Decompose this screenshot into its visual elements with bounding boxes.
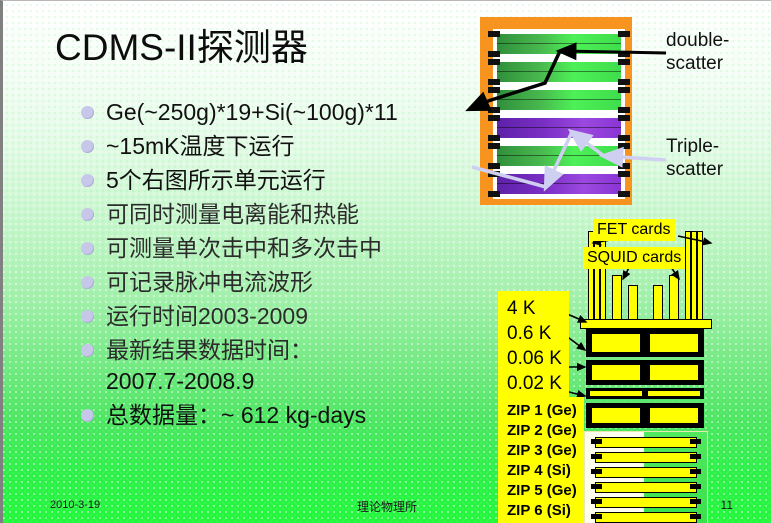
bullet-dot-icon xyxy=(81,276,94,289)
label-double-scatter: double- scatter xyxy=(666,29,729,75)
label-double-scatter-line2: scatter xyxy=(666,52,729,75)
zip-label: ZIP 3 (Ge) xyxy=(507,441,577,461)
bullet-list: Ge(~250g)*19+Si(~100g)*11 ~15mK温度下运行 5个右… xyxy=(81,97,481,434)
fet-cards-label: FET cards xyxy=(593,219,675,241)
bullet-dot-icon xyxy=(81,344,94,357)
zip-label: ZIP 2 (Ge) xyxy=(507,421,577,441)
bullet-text: 可记录脉冲电流波形 xyxy=(106,267,313,298)
list-item: 总数据量：~ 612 kg-days xyxy=(81,400,481,431)
zip-label: ZIP 4 (Si) xyxy=(507,461,577,481)
list-item: 可测量单次击中和多次击中 xyxy=(81,233,481,264)
label-double-scatter-line1: double- xyxy=(666,29,729,52)
bullet-dot-icon xyxy=(81,310,94,323)
zip-label: ZIP 1 (Ge) xyxy=(507,401,577,421)
detector-tower-diagram: double- scatter Triple- scatter xyxy=(480,17,770,212)
label-triple-scatter-line2: scatter xyxy=(666,158,723,181)
temperature-value: 0.6 K xyxy=(507,321,562,346)
list-item: 最新结果数据时间： 2007.7-2008.9 xyxy=(81,335,481,397)
bullet-dot-icon xyxy=(81,242,94,255)
bullet-text: 可同时测量电离能和热能 xyxy=(106,199,359,230)
cryostat-diagram: FET cards SQUID cards 4 K 0.6 K 0.06 K 0… xyxy=(473,219,768,509)
bullet-text: ~15mK温度下运行 xyxy=(106,131,295,162)
bullet-text: 可测量单次击中和多次击中 xyxy=(106,233,382,264)
bullet-text-continuation: 2007.7-2008.9 xyxy=(106,366,313,397)
bullet-text: 5个右图所示单元运行 xyxy=(106,165,326,196)
squid-cards-label: SQUID cards xyxy=(583,247,685,269)
bullet-text: 运行时间2003-2009 xyxy=(106,301,308,332)
bullet-text: Ge(~250g)*19+Si(~100g)*11 xyxy=(106,97,398,128)
bullet-text-group: 最新结果数据时间： 2007.7-2008.9 xyxy=(106,335,313,397)
list-item: ~15mK温度下运行 xyxy=(81,131,481,162)
bullet-dot-icon xyxy=(81,208,94,221)
slide-canvas: CDMS-II探测器 Ge(~250g)*19+Si(~100g)*11 ~15… xyxy=(0,0,771,523)
list-item: 可同时测量电离能和热能 xyxy=(81,199,481,230)
temperature-value: 4 K xyxy=(507,296,562,321)
bullet-dot-icon xyxy=(81,106,94,119)
temperature-value: 0.06 K xyxy=(507,346,562,371)
bullet-dot-icon xyxy=(81,140,94,153)
page-number: 11 xyxy=(721,498,733,512)
page-title: CDMS-II探测器 xyxy=(55,17,308,71)
list-item: 可记录脉冲电流波形 xyxy=(81,267,481,298)
list-item: Ge(~250g)*19+Si(~100g)*11 xyxy=(81,97,481,128)
bullet-text: 总数据量：~ 612 kg-days xyxy=(106,400,366,431)
label-triple-scatter: Triple- scatter xyxy=(666,135,723,181)
footer-affiliation: 理论物理所 xyxy=(3,498,771,515)
bullet-text: 最新结果数据时间： xyxy=(106,335,313,366)
list-item: 5个右图所示单元运行 xyxy=(81,165,481,196)
label-triple-scatter-line1: Triple- xyxy=(666,135,723,158)
bullet-dot-icon xyxy=(81,174,94,187)
temperature-value: 0.02 K xyxy=(507,371,562,396)
bullet-dot-icon xyxy=(81,409,94,422)
list-item: 运行时间2003-2009 xyxy=(81,301,481,332)
slide-footer: 2010-3-19 理论物理所 11 xyxy=(3,493,771,523)
temperature-legend: 4 K 0.6 K 0.06 K 0.02 K xyxy=(498,291,569,402)
